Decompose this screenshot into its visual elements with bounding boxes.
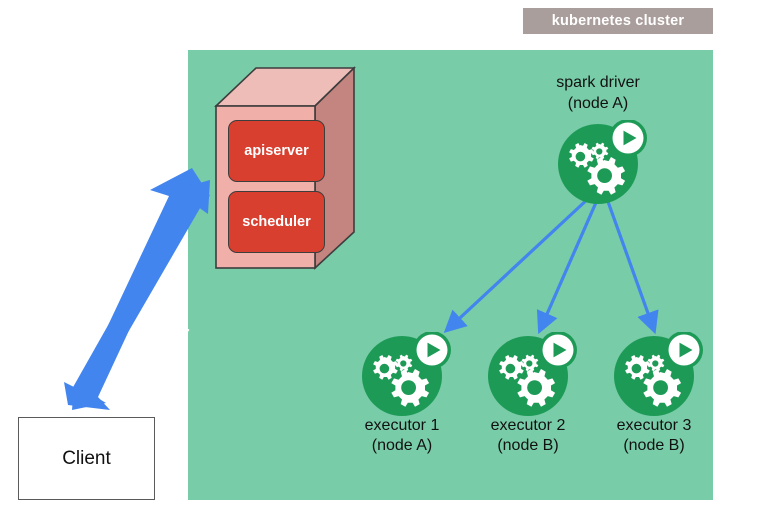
gears-play-icon [614, 332, 706, 420]
executor-2-node[interactable]: executor 2 (node B) [488, 332, 568, 412]
cluster-banner: kubernetes cluster [523, 8, 713, 34]
executor-1-node-label: (node A) [365, 436, 440, 456]
diagram-canvas: kubernetes cluster Client spark-submit [0, 0, 761, 516]
executor-3-caption: executor 3 (node B) [617, 416, 692, 457]
control-plane-cube: apiserver scheduler [208, 62, 358, 277]
cluster-banner-label: kubernetes cluster [552, 13, 685, 29]
executor-2-caption: executor 2 (node B) [491, 416, 566, 457]
executor-3-name: executor 3 [617, 416, 692, 436]
gears-play-icon [488, 332, 580, 420]
apiserver-box[interactable]: apiserver [228, 120, 325, 182]
gears-play-icon [558, 120, 650, 208]
executor-3-node[interactable]: executor 3 (node B) [614, 332, 694, 412]
executor-1-caption: executor 1 (node A) [365, 416, 440, 457]
spark-driver-name: spark driver [556, 73, 640, 93]
spark-submit-arrow: spark-submit [58, 160, 218, 410]
spark-driver-caption: spark driver (node A) [556, 73, 640, 114]
executor-1-node[interactable]: executor 1 (node A) [362, 332, 442, 412]
scheduler-box[interactable]: scheduler [228, 191, 325, 253]
client-box: Client [18, 417, 155, 500]
executor-3-node-label: (node B) [617, 436, 692, 456]
scheduler-label: scheduler [242, 214, 311, 230]
executor-1-name: executor 1 [365, 416, 440, 436]
apiserver-label: apiserver [244, 143, 309, 159]
spark-driver-node[interactable]: spark driver (node A) [558, 120, 638, 200]
executor-2-name: executor 2 [491, 416, 566, 436]
spark-driver-node-label: (node A) [556, 94, 640, 114]
gears-play-icon [362, 332, 454, 420]
control-plane-services: apiserver scheduler [218, 106, 335, 267]
client-label: Client [62, 448, 111, 470]
executor-2-node-label: (node B) [491, 436, 566, 456]
spark-submit-arrow-body [72, 182, 203, 398]
